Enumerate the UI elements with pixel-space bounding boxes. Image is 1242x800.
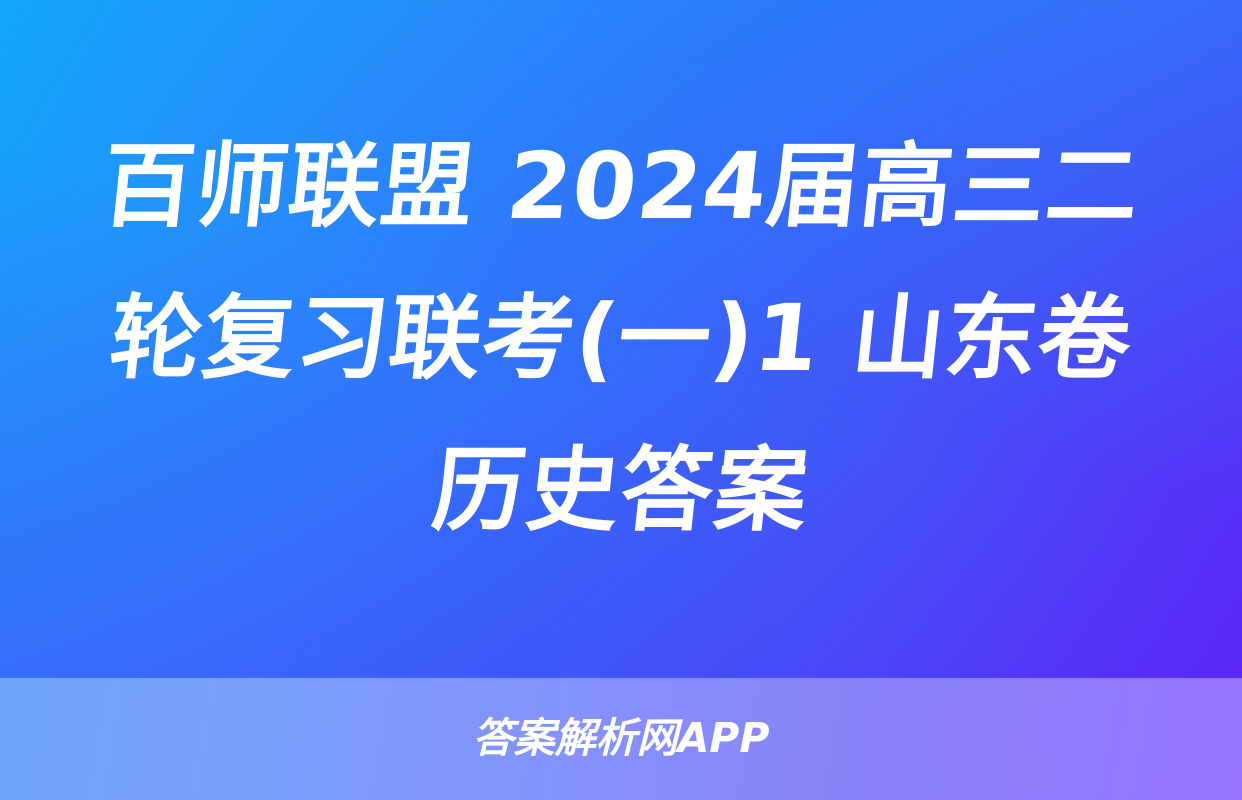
title-line-3: 历史答案 (62, 415, 1180, 567)
watermark-text: 答案解析网APP (473, 718, 770, 759)
title-block: 百师联盟 2024届高三二 轮复习联考(一)1 山东卷 历史答案 (0, 0, 1242, 678)
title-line-2: 轮复习联考(一)1 山东卷 (62, 263, 1180, 415)
footer-watermark-band: 答案解析网APP (0, 678, 1242, 800)
title-line-1: 百师联盟 2024届高三二 (62, 111, 1180, 263)
answer-cover-screen: 百师联盟 2024届高三二 轮复习联考(一)1 山东卷 历史答案 答案解析网AP… (0, 0, 1242, 800)
